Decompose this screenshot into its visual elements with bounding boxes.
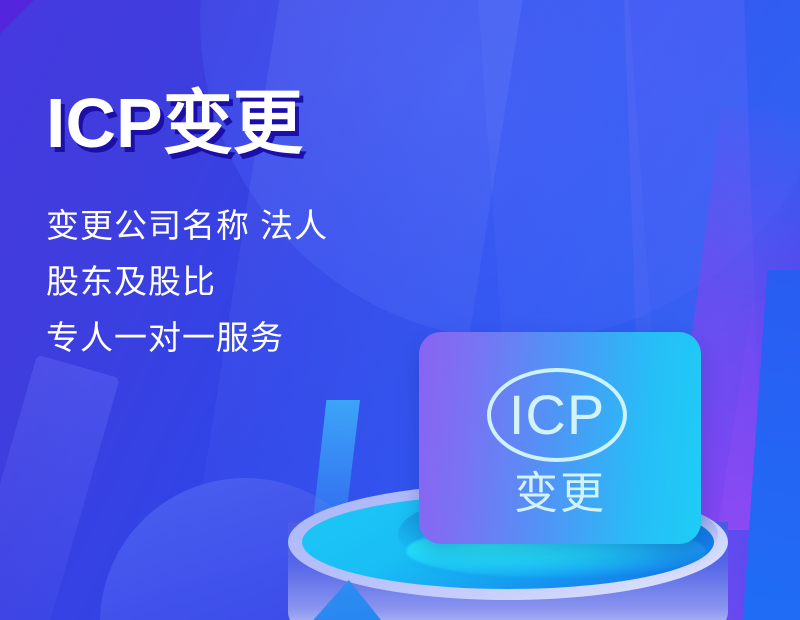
- page-title: ICP变更: [46, 86, 446, 160]
- icp-card-caption: 变更: [419, 472, 701, 516]
- diagonal-stripe-decoration: [0, 355, 120, 620]
- corner-triangle-decoration: [0, 0, 34, 34]
- subtitle-line-2: 股东及股比: [46, 254, 446, 310]
- subtitle-block: 变更公司名称 法人 股东及股比 专人一对一服务: [46, 198, 446, 366]
- icp-badge-ellipse-icon: ICP: [487, 368, 627, 462]
- icp-badge-label: ICP: [491, 372, 623, 458]
- icp-card[interactable]: ICP 变更: [419, 332, 701, 544]
- headline-block: ICP变更 变更公司名称 法人 股东及股比 专人一对一服务: [46, 86, 446, 366]
- promo-banner: ICP变更 变更公司名称 法人 股东及股比 专人一对一服务 ICP 变更: [0, 0, 800, 620]
- subtitle-line-1: 变更公司名称 法人: [46, 198, 446, 254]
- subtitle-line-3: 专人一对一服务: [46, 310, 446, 366]
- blue-wedge-decoration: [742, 270, 800, 620]
